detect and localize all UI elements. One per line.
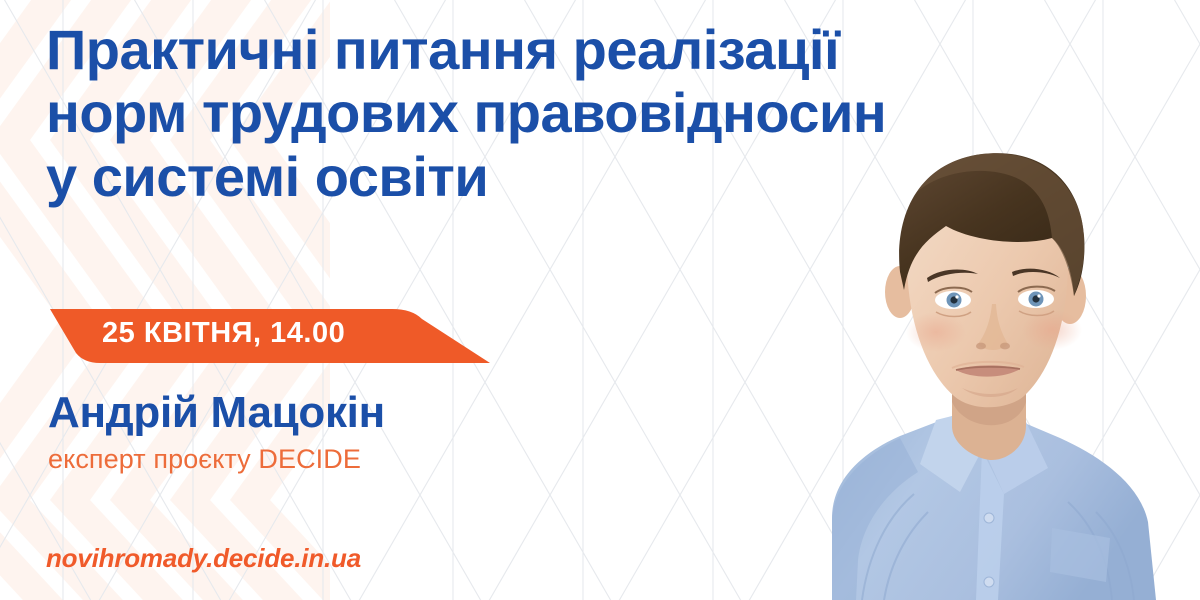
title-line-1: Практичні питання реалізації [46, 18, 1166, 81]
page-title: Практичні питання реалізації норм трудов… [46, 18, 1166, 208]
date-badge-label: 25 КВІТНЯ, 14.00 [102, 317, 345, 350]
speaker-role: експерт проєкту DECIDE [48, 444, 361, 475]
title-line-3: у системі освіти [46, 145, 1166, 208]
website-url[interactable]: novihromady.decide.in.ua [46, 543, 361, 574]
speaker-name: Андрій Мацокін [48, 388, 385, 438]
banner-content: Практичні питання реалізації норм трудов… [0, 0, 660, 600]
date-time-badge: 25 КВІТНЯ, 14.00 [40, 305, 500, 367]
title-line-2: норм трудових правовідносин [46, 81, 1166, 144]
event-announcement-banner: Практичні питання реалізації норм трудов… [0, 0, 1200, 600]
